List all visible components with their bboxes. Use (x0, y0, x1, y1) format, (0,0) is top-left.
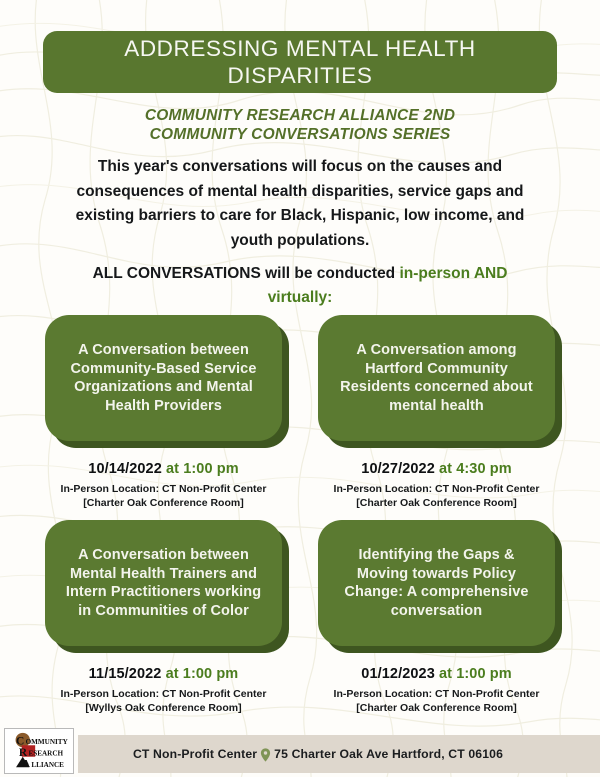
card-3-title: A Conversation between Mental Health Tra… (59, 546, 268, 620)
card-4-location-line-2: [Charter Oak Conference Room] (318, 701, 555, 715)
card-row-1: A Conversation between Community-Based S… (0, 315, 600, 520)
card-4-location-line-1: In-Person Location: CT Non-Profit Center (318, 687, 555, 701)
card-3-box[interactable]: A Conversation between Mental Health Tra… (45, 520, 282, 646)
conversation-card-3[interactable]: A Conversation between Mental Health Tra… (45, 520, 282, 715)
poster-header-banner: ADDRESSING MENTAL HEALTH DISPARITIES (43, 31, 557, 93)
card-2-date: 10/27/2022 (361, 461, 435, 477)
card-3-time: at 1:00 pm (161, 666, 238, 682)
card-1-date: 10/14/2022 (88, 461, 162, 477)
card-1-title: A Conversation between Community-Based S… (59, 341, 268, 415)
card-1-location-line-1: In-Person Location: CT Non-Profit Center (45, 482, 282, 496)
card-4-time: at 1:00 pm (435, 666, 512, 682)
card-3-location-line-2: [Wyllys Oak Conference Room] (45, 701, 282, 715)
card-1-date-line: 10/14/2022 at 1:00 pm (45, 461, 282, 477)
svg-text:LLIANCE: LLIANCE (31, 761, 64, 769)
card-3-date: 11/15/2022 (89, 666, 162, 682)
footer-address: 75 Charter Oak Ave Hartford, CT 06106 (274, 747, 503, 761)
subtitle-line-1: COMMUNITY RESEARCH ALLIANCE 2ND (0, 106, 600, 125)
footer-address-line: CT Non-Profit Center 75 Charter Oak Ave … (133, 747, 503, 761)
conversation-card-1[interactable]: A Conversation between Community-Based S… (45, 315, 282, 510)
card-1-location: In-Person Location: CT Non-Profit Center… (45, 482, 282, 510)
map-pin-icon (260, 748, 271, 762)
card-row-2: A Conversation between Mental Health Tra… (0, 520, 600, 725)
page-title: ADDRESSING MENTAL HEALTH DISPARITIES (43, 35, 557, 89)
conversations-note-black: ALL CONVERSATIONS will be conducted (93, 265, 400, 282)
poster-canvas: ADDRESSING MENTAL HEALTH DISPARITIES COM… (0, 0, 600, 777)
card-1-time: at 1:00 pm (162, 461, 239, 477)
footer-venue: CT Non-Profit Center (133, 747, 257, 761)
card-2-time: at 4:30 pm (435, 461, 512, 477)
card-3-location: In-Person Location: CT Non-Profit Center… (45, 687, 282, 715)
card-2-date-line: 10/27/2022 at 4:30 pm (318, 461, 555, 477)
card-2-location: In-Person Location: CT Non-Profit Center… (318, 482, 555, 510)
card-2-box[interactable]: A Conversation among Hartford Community … (318, 315, 555, 441)
card-4-location: In-Person Location: CT Non-Profit Center… (318, 687, 555, 715)
card-1-location-line-2: [Charter Oak Conference Room] (45, 496, 282, 510)
community-research-alliance-logo: C OMMUNITY R ESEARCH A LLIANCE (4, 728, 74, 774)
card-2-location-line-2: [Charter Oak Conference Room] (318, 496, 555, 510)
svg-text:OMMUNITY: OMMUNITY (26, 738, 69, 746)
card-4-box[interactable]: Identifying the Gaps & Moving towards Po… (318, 520, 555, 646)
svg-text:A: A (22, 758, 31, 770)
card-4-date-line: 01/12/2023 at 1:00 pm (318, 666, 555, 682)
conversations-note: ALL CONVERSATIONS will be conducted in-p… (60, 262, 540, 310)
subtitle-line-2: COMMUNITY CONVERSATIONS SERIES (0, 125, 600, 144)
footer-bar: CT Non-Profit Center 75 Charter Oak Ave … (78, 735, 600, 773)
card-3-location-line-1: In-Person Location: CT Non-Profit Center (45, 687, 282, 701)
card-3-date-line: 11/15/2022 at 1:00 pm (45, 666, 282, 682)
card-4-date: 01/12/2023 (361, 666, 435, 682)
conversation-card-4[interactable]: Identifying the Gaps & Moving towards Po… (318, 520, 555, 715)
conversation-cards-grid: A Conversation between Community-Based S… (0, 315, 600, 725)
card-4-title: Identifying the Gaps & Moving towards Po… (332, 546, 541, 620)
intro-paragraph: This year's conversations will focus on … (60, 155, 540, 253)
card-2-location-line-1: In-Person Location: CT Non-Profit Center (318, 482, 555, 496)
logo-artwork: C OMMUNITY R ESEARCH A LLIANCE (5, 729, 73, 773)
conversation-card-2[interactable]: A Conversation among Hartford Community … (318, 315, 555, 510)
card-1-box[interactable]: A Conversation between Community-Based S… (45, 315, 282, 441)
poster-subtitle: COMMUNITY RESEARCH ALLIANCE 2ND COMMUNIT… (0, 106, 600, 144)
svg-text:R: R (19, 747, 28, 759)
svg-text:ESEARCH: ESEARCH (28, 749, 63, 757)
svg-text:C: C (16, 735, 24, 747)
card-2-title: A Conversation among Hartford Community … (332, 341, 541, 415)
